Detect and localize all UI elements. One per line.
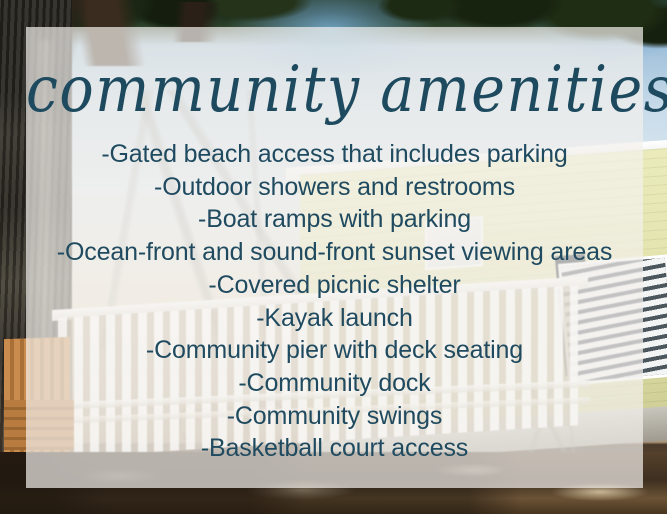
page-title: community amenities [26, 27, 643, 122]
list-item: -Community swings [26, 400, 643, 433]
list-item: -Basketball court access [26, 432, 643, 465]
list-item: -Kayak launch [26, 302, 643, 335]
list-item: -Outdoor showers and restrooms [26, 171, 643, 204]
list-item: -Community dock [26, 367, 643, 400]
list-item: -Covered picnic shelter [26, 269, 643, 302]
list-item: -Boat ramps with parking [26, 203, 643, 236]
list-item: -Community pier with deck seating [26, 334, 643, 367]
list-item: -Gated beach access that includes parkin… [26, 138, 643, 171]
amenities-list: -Gated beach access that includes parkin… [26, 138, 643, 465]
amenities-card: community amenities -Gated beach access … [0, 0, 667, 514]
list-item: -Ocean-front and sound-front sunset view… [26, 236, 643, 269]
